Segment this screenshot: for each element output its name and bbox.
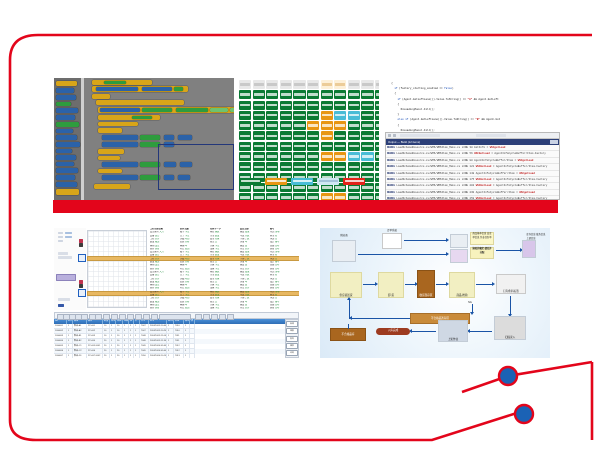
status-cell[interactable] <box>253 101 265 110</box>
arrow-reject-up <box>349 300 350 319</box>
status-cell[interactable] <box>375 162 379 171</box>
blockly-palette[interactable] <box>54 78 81 200</box>
console-log-panel[interactable]: Output — Build (12 items) DEBUG LoadSche… <box>385 132 560 200</box>
block-control[interactable] <box>92 94 110 99</box>
arrow-truck-to-unload <box>363 284 375 285</box>
planning-text-column: 備考特記 事項担当 者承認 日改訂 番号登録 日時更新 日時特記 事項担当 者承… <box>270 228 299 311</box>
planning-text-columns: 工程管理台帳受注番号 入力品番 照合工程 区分数量 確認納期 設定進捗 更新受注… <box>150 228 299 310</box>
status-cell[interactable] <box>321 131 333 140</box>
block-control[interactable] <box>96 100 184 105</box>
palette-block[interactable] <box>56 129 73 133</box>
status-cell[interactable] <box>239 90 251 99</box>
block-logic[interactable] <box>140 175 160 180</box>
block-control[interactable] <box>94 184 130 189</box>
status-cell[interactable] <box>293 101 305 110</box>
table-side-button[interactable]: 削除 <box>286 336 298 342</box>
block-logic[interactable] <box>140 142 160 147</box>
block-control[interactable] <box>98 149 124 154</box>
order-system-icon <box>382 233 402 249</box>
status-cell[interactable] <box>361 111 373 120</box>
status-cell[interactable] <box>293 121 305 130</box>
status-cell[interactable] <box>253 80 265 89</box>
arrowhead <box>492 282 495 286</box>
status-cell[interactable] <box>348 152 360 161</box>
palette-block[interactable] <box>56 115 75 120</box>
table-side-buttons[interactable]: 新規編集削除検索印刷閉じる <box>285 319 299 359</box>
status-cell[interactable] <box>239 121 251 130</box>
status-cell[interactable] <box>361 121 373 130</box>
status-cell[interactable] <box>266 111 278 120</box>
palette-block[interactable] <box>56 149 72 153</box>
supplier-truck-node[interactable]: 供应商送货 <box>330 272 362 298</box>
status-cell[interactable] <box>266 193 278 200</box>
code-editor-panel[interactable]: { if (factory_starting_enabled == false)… <box>385 78 560 200</box>
block-variable[interactable] <box>102 175 138 180</box>
status-cell[interactable] <box>239 101 251 110</box>
status-cell[interactable] <box>266 162 278 171</box>
planning-text-row: 更新 日時 <box>270 307 299 310</box>
shelving-node[interactable]: 上架作业 <box>438 320 468 342</box>
planning-text-column: 工程管理台帳受注番号 入力品番 照合工程 区分数量 確認納期 設定進捗 更新受注… <box>150 228 184 311</box>
status-cell[interactable] <box>334 90 346 99</box>
status-cell[interactable] <box>348 193 360 200</box>
status-cell[interactable] <box>375 173 379 182</box>
block-logic[interactable] <box>174 87 183 91</box>
arrow-wms-to-db <box>496 250 520 251</box>
status-cell[interactable] <box>375 142 379 151</box>
status-cell[interactable] <box>239 80 251 89</box>
status-cell[interactable] <box>375 193 379 200</box>
table-cell[interactable]: 7013 <box>174 354 184 358</box>
status-cell[interactable] <box>361 80 373 89</box>
palette-block[interactable] <box>56 88 74 93</box>
status-cell[interactable] <box>334 101 346 110</box>
block-logic[interactable] <box>142 108 172 112</box>
arrow-receiving-to-inspection <box>436 284 446 285</box>
status-cell[interactable] <box>321 111 333 120</box>
block-selection-outline <box>158 144 234 190</box>
status-cell[interactable] <box>293 193 305 200</box>
status-cell[interactable] <box>293 162 305 171</box>
board-marker[interactable] <box>79 280 83 284</box>
legend-swatch <box>239 178 261 185</box>
status-cell[interactable] <box>253 121 265 130</box>
arrowhead <box>347 297 351 300</box>
sidebar-chip <box>58 304 64 307</box>
status-cell[interactable] <box>321 193 333 200</box>
status-cell[interactable] <box>280 90 292 99</box>
inbound-done-node[interactable]: 入库完成 <box>376 328 410 335</box>
scan-in-node[interactable]: 扫描录入 <box>494 316 526 340</box>
status-cell[interactable] <box>361 131 373 140</box>
arrow-inspection-to-barcode <box>476 284 492 285</box>
supplier-office-icon <box>332 240 356 262</box>
status-cell[interactable] <box>266 152 278 161</box>
table-side-button[interactable]: 検索 <box>286 343 298 349</box>
status-cell[interactable] <box>375 131 379 140</box>
table-toolbar[interactable] <box>54 312 299 319</box>
db-notes: 库存信息 账务信息 上架信息 <box>526 234 548 248</box>
slide-canvas: { if (factory_starting_enabled == false)… <box>0 0 600 450</box>
table-cell[interactable]: 1000007 <box>54 354 67 358</box>
status-cell[interactable] <box>321 80 333 89</box>
legend-swatch <box>291 178 313 185</box>
status-cell[interactable] <box>375 90 379 99</box>
wms-output-note: 商品基本信息 出库单信息 作业任务单 <box>470 232 494 245</box>
code-text-area[interactable]: { if (factory_starting_enabled == false)… <box>385 78 560 135</box>
block-variable[interactable] <box>164 135 174 140</box>
arrow-scan-to-shelving <box>470 331 492 332</box>
status-cell[interactable] <box>361 142 373 151</box>
arrowhead <box>470 312 474 315</box>
status-cell[interactable] <box>334 142 346 151</box>
accent-circle-upper <box>499 367 517 385</box>
table-side-button[interactable]: 印刷 <box>286 350 298 356</box>
block-variable[interactable] <box>102 142 138 147</box>
frame-diagonal-link-path <box>462 376 508 392</box>
arrowhead <box>446 238 449 242</box>
arrow-order-to-wms <box>404 240 446 241</box>
block-text[interactable] <box>210 108 228 112</box>
table-cell[interactable]: PC-007 0002 <box>87 354 103 358</box>
palette-block[interactable] <box>56 182 77 187</box>
status-cell[interactable] <box>239 162 251 171</box>
status-cell[interactable] <box>348 162 360 171</box>
status-cell[interactable] <box>348 111 360 120</box>
arrow-ng-down <box>472 304 473 312</box>
palette-block[interactable] <box>56 142 80 147</box>
wms-terminal-icon-bottom <box>450 249 468 263</box>
unload-node[interactable]: 卸 货 <box>378 272 404 298</box>
sidebar-chip <box>58 252 68 255</box>
table-cell[interactable]: 2024/10/06 10:10 <box>149 354 167 358</box>
status-cell[interactable] <box>307 162 319 171</box>
status-cell[interactable] <box>239 131 251 140</box>
status-cell[interactable] <box>307 152 319 161</box>
supplier-office-label: 供应商 <box>328 234 360 237</box>
status-cell[interactable] <box>253 193 265 200</box>
sidebar-chip <box>58 240 63 242</box>
block-logic[interactable] <box>140 162 160 167</box>
status-cell[interactable] <box>293 152 305 161</box>
status-cell[interactable] <box>266 142 278 151</box>
sidebar-chip <box>65 232 72 234</box>
status-cell[interactable] <box>334 121 346 130</box>
status-cell[interactable] <box>334 111 346 120</box>
status-cell[interactable] <box>361 193 373 200</box>
planning-board-top[interactable]: 工程管理台帳受注番号 入力品番 照合工程 区分数量 確認納期 設定進捗 更新受注… <box>54 228 299 310</box>
table-cell[interactable]: 製品-D1 <box>73 354 87 358</box>
status-cell[interactable] <box>361 90 373 99</box>
ng-edge-label: NG <box>465 301 475 304</box>
logistics-flow-panel[interactable]: 供应商 订单系统 商品基本信息 出库单信息 作业任务单 接收并确定 储位并分配 … <box>320 228 550 358</box>
sidebar-chip <box>58 232 63 234</box>
board-node[interactable] <box>78 254 86 262</box>
inspection-node[interactable]: 商品 检验 <box>449 272 475 298</box>
log-header-bar: Output — Build (12 items) <box>386 139 559 145</box>
wms-task-note: 接收并确定 储位并分配 <box>470 247 494 259</box>
block-text[interactable] <box>230 108 234 112</box>
status-matrix-panel[interactable] <box>237 78 379 200</box>
board-node[interactable] <box>78 289 86 297</box>
status-cell[interactable] <box>253 162 265 171</box>
table-side-button[interactable]: 編集 <box>286 328 298 334</box>
block-control[interactable] <box>98 128 122 133</box>
status-cell[interactable] <box>280 131 292 140</box>
palette-block[interactable] <box>56 95 76 100</box>
planning-text-row: 出庫 予定 <box>210 307 244 310</box>
barcode-print-node[interactable]: 打印条码标签 <box>496 274 526 294</box>
planning-text-row: 進捗 更新 <box>150 307 184 310</box>
status-cell[interactable] <box>307 121 319 130</box>
status-cell[interactable] <box>239 111 251 120</box>
status-cell[interactable] <box>375 183 379 192</box>
status-cell[interactable] <box>253 90 265 99</box>
status-cell[interactable] <box>239 152 251 161</box>
palette-block[interactable] <box>56 102 71 106</box>
frame-bottom-path <box>10 412 520 440</box>
planning-board-grid[interactable] <box>87 230 147 308</box>
frame-diagonal-upper-path <box>508 362 592 376</box>
status-cell[interactable] <box>280 101 292 110</box>
board-marker[interactable] <box>79 284 83 288</box>
log-rows[interactable]: DEBUG LoadSchemeResource.cs/WMS/WMSItem_… <box>386 145 559 200</box>
status-cell[interactable] <box>375 101 379 110</box>
sidebar-chip <box>58 298 70 301</box>
table-side-button[interactable]: 新規 <box>286 321 298 327</box>
planning-text-column: 進捗実績着手 予定完了 予定実績 時間差異 分析稼働 率停止 要因着手 予定完了… <box>180 228 214 311</box>
block-control[interactable] <box>98 169 122 173</box>
palette-block[interactable] <box>56 175 75 180</box>
arrowhead <box>446 252 449 256</box>
palette-block[interactable] <box>56 189 79 195</box>
status-cell[interactable] <box>307 80 319 89</box>
status-cell[interactable] <box>348 90 360 99</box>
planning-text-column: 品質記録検査 結果不良 件数手直し 数歩留 率検査 員判定 区分検査 結果不良 … <box>240 228 274 311</box>
table-body[interactable]: 10000011製品-A1PC-0011011011170472024/10/0… <box>54 324 299 358</box>
status-cell[interactable] <box>293 142 305 151</box>
table-row[interactable]: 10000071製品-D1PC-007 00022012011170502024… <box>54 354 299 358</box>
wms-terminal-icon-top <box>450 234 468 248</box>
block-variable[interactable] <box>100 108 140 112</box>
status-cell[interactable] <box>253 111 265 120</box>
arrow-supplier-to-wms <box>358 254 446 255</box>
reject-store-node[interactable]: 不合格品库 <box>330 328 366 341</box>
status-cell[interactable] <box>293 90 305 99</box>
status-cell[interactable] <box>253 142 265 151</box>
block-row[interactable] <box>98 122 138 126</box>
status-cell[interactable] <box>266 101 278 110</box>
block-variable[interactable] <box>102 162 138 167</box>
status-cell[interactable] <box>361 152 373 161</box>
arrow-unload-to-receiving <box>405 284 415 285</box>
legend-swatch <box>317 178 339 185</box>
status-cell[interactable] <box>361 101 373 110</box>
status-cell[interactable] <box>280 193 292 200</box>
status-cell[interactable] <box>266 80 278 89</box>
status-cell[interactable] <box>307 90 319 99</box>
status-cell[interactable] <box>361 162 373 171</box>
decorative-frame <box>0 0 600 450</box>
status-legend <box>239 178 365 185</box>
status-cell[interactable] <box>348 80 360 89</box>
legend-swatch <box>265 178 287 185</box>
status-cell[interactable] <box>334 131 346 140</box>
accent-circle-lower <box>515 405 533 423</box>
arrow-reject-to-left <box>352 318 410 319</box>
status-cell[interactable] <box>375 80 379 89</box>
palette-block[interactable] <box>56 122 79 127</box>
status-cell[interactable] <box>321 121 333 130</box>
arrow-barcode-to-scan <box>510 296 511 314</box>
status-cell[interactable] <box>334 162 346 171</box>
status-cell[interactable] <box>334 193 346 200</box>
status-cell[interactable] <box>253 152 265 161</box>
board-marker[interactable] <box>79 243 83 247</box>
status-cell[interactable] <box>280 142 292 151</box>
status-cell[interactable] <box>334 152 346 161</box>
sidebar-selected-chip[interactable] <box>56 274 76 281</box>
status-cell[interactable] <box>253 131 265 140</box>
block-variable[interactable] <box>142 87 172 91</box>
status-cell[interactable] <box>321 90 333 99</box>
status-cell[interactable] <box>307 193 319 200</box>
status-cell[interactable] <box>375 111 379 120</box>
status-cell[interactable] <box>348 142 360 151</box>
table-cell[interactable]: 7050 <box>140 354 149 358</box>
status-cell[interactable] <box>266 90 278 99</box>
status-cell[interactable] <box>375 152 379 161</box>
planning-text-row: 判定 区分 <box>240 307 274 310</box>
block-variable[interactable] <box>102 135 138 140</box>
order-system-label: 订单系统 <box>378 229 406 232</box>
planning-board-panel[interactable]: 工程管理台帳受注番号 入力品番 照合工程 区分数量 確認納期 設定進捗 更新受注… <box>54 228 299 358</box>
log-title: Output — Build (12 items) <box>388 140 420 144</box>
status-cell[interactable] <box>307 142 319 151</box>
status-cell[interactable] <box>293 111 305 120</box>
status-cell[interactable] <box>307 101 319 110</box>
status-cell[interactable] <box>321 101 333 110</box>
status-cell[interactable] <box>239 142 251 151</box>
status-cell[interactable] <box>321 152 333 161</box>
palette-block[interactable] <box>56 162 74 166</box>
sidebar-chip <box>58 236 63 238</box>
status-cell[interactable] <box>280 152 292 161</box>
block-logic[interactable] <box>176 108 208 112</box>
planning-text-column: 在庫データ現在 庫数引当 数量安全 在庫発注 点入庫 予定出庫 予定現在 庫数引… <box>210 228 244 311</box>
status-cell[interactable] <box>280 162 292 171</box>
log-row[interactable]: DEBUG LoadSchemeResource.cs/WMS/WMSItem_… <box>386 196 559 200</box>
block-logic[interactable] <box>132 116 152 119</box>
status-cell[interactable] <box>334 80 346 89</box>
blockly-canvas[interactable] <box>84 78 234 200</box>
status-cell[interactable] <box>280 80 292 89</box>
palette-block[interactable] <box>56 135 77 140</box>
status-cell[interactable] <box>321 142 333 151</box>
status-cell[interactable] <box>348 101 360 110</box>
status-cell[interactable] <box>348 131 360 140</box>
status-cell[interactable] <box>348 121 360 130</box>
arrow-store-link <box>348 324 349 329</box>
palette-block[interactable] <box>56 81 77 86</box>
receiving-area-node[interactable]: 收货暂存区 <box>417 270 435 298</box>
arrow-shelving-to-done <box>412 331 436 332</box>
sidebar-chip <box>58 256 72 259</box>
table-cell[interactable]: 20 <box>116 354 123 358</box>
status-cell[interactable] <box>266 121 278 130</box>
block-variable[interactable] <box>178 135 192 140</box>
palette-block[interactable] <box>56 108 78 113</box>
blockly-editor-panel[interactable] <box>54 78 234 200</box>
palette-block[interactable] <box>56 168 78 173</box>
planning-text-row: 停止 要因 <box>180 307 214 310</box>
block-inner[interactable] <box>104 81 126 84</box>
table-cell[interactable] <box>190 354 195 358</box>
status-cell[interactable] <box>321 162 333 171</box>
log-scrollbar[interactable] <box>550 140 558 144</box>
table-cell[interactable]: 20 <box>103 354 110 358</box>
legend-swatch <box>343 178 365 185</box>
status-cell[interactable] <box>280 121 292 130</box>
status-cell[interactable] <box>280 111 292 120</box>
status-cell[interactable] <box>293 80 305 89</box>
status-cell[interactable] <box>266 131 278 140</box>
board-marker[interactable] <box>79 239 83 243</box>
status-cell[interactable] <box>307 131 319 140</box>
sidebar-chip <box>65 236 72 238</box>
red-divider-bar <box>53 200 558 213</box>
block-variable[interactable] <box>96 87 138 91</box>
status-cell[interactable] <box>239 193 251 200</box>
block-control[interactable] <box>98 156 120 160</box>
table-cell[interactable]: 1 <box>167 354 174 358</box>
status-cell[interactable] <box>375 121 379 130</box>
status-cell[interactable] <box>293 131 305 140</box>
status-cell[interactable] <box>307 111 319 120</box>
palette-block[interactable] <box>56 155 76 160</box>
block-logic[interactable] <box>140 135 160 140</box>
order-table[interactable]: No区分品番品名数量単位単価金額税計日付担当納入先状態備考済 10000011製… <box>54 312 299 358</box>
